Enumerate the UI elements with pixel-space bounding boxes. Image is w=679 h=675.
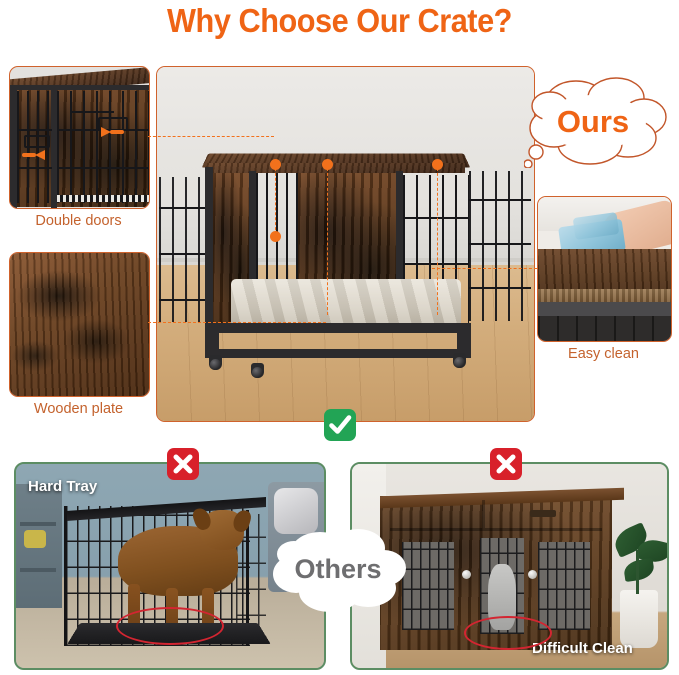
left-door-mesh	[402, 542, 454, 630]
connector-wooden-plate	[148, 322, 326, 323]
double-doors-image	[10, 67, 149, 208]
label-difficult-clean: Difficult Clean	[532, 640, 633, 657]
caption-double-doors: Double doors	[9, 213, 148, 229]
feature-panel-double-doors	[9, 66, 150, 209]
cross-badge-right	[490, 448, 522, 480]
arrow-icon-right-door	[101, 127, 111, 137]
caster-wheel	[251, 363, 264, 378]
caption-wooden-plate: Wooden plate	[9, 401, 148, 417]
caption-easy-clean: Easy clean	[537, 346, 670, 362]
door-knob	[462, 570, 471, 579]
caster-wheel	[453, 353, 466, 368]
feature-panel-wooden-plate	[9, 252, 150, 397]
main-product-panel	[156, 66, 535, 422]
metal-frame-band	[538, 302, 671, 316]
board-edge	[538, 289, 671, 302]
right-door-mesh	[538, 542, 590, 630]
label-hard-tray: Hard Tray	[28, 478, 97, 495]
easy-clean-image	[538, 197, 671, 341]
marker-dot-doors	[270, 159, 281, 170]
bubble-ours: Ours	[524, 72, 670, 168]
bubble-ours-label: Ours	[520, 104, 666, 140]
marker-line-doors	[275, 163, 276, 235]
wood-surface	[538, 249, 671, 289]
marker-dot-plate	[322, 159, 333, 170]
caster-wheel	[209, 355, 222, 370]
highlight-ellipse-hard-tray	[116, 607, 224, 645]
marker-dot-doors-end	[270, 231, 281, 242]
check-badge	[324, 409, 356, 441]
connector-double-doors	[148, 136, 274, 137]
marker-dot-clean	[432, 159, 443, 170]
arrow-tail-left	[22, 153, 36, 157]
highlight-ellipse-difficult-clean	[464, 616, 552, 650]
marker-line-plate	[327, 163, 328, 315]
arrow-tail-right	[110, 130, 124, 134]
marker-line-clean	[437, 163, 438, 315]
wooden-plate-image	[10, 253, 149, 396]
arrow-icon-left-door	[35, 150, 45, 160]
page-title: Why Choose Our Crate?	[24, 2, 655, 40]
cross-badge-left	[167, 448, 199, 480]
door-knob	[528, 570, 537, 579]
connector-easy-clean	[432, 268, 537, 269]
bubble-others-label: Others	[270, 554, 406, 585]
bubble-others: Others	[272, 524, 408, 614]
feature-panel-easy-clean	[537, 196, 672, 342]
